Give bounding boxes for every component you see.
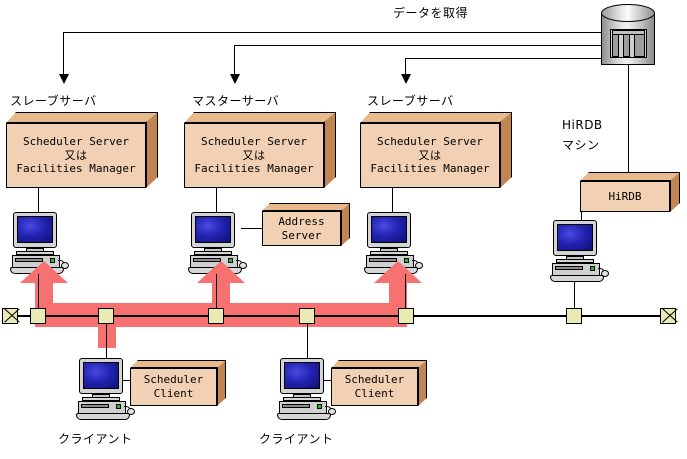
bus-drop-server1 (38, 274, 39, 309)
server-box-2-front: Scheduler Server 又は Facilities Manager (184, 123, 324, 188)
client-box-1-line1: Scheduler (144, 373, 204, 387)
client-box-1-side (217, 360, 226, 406)
server-box-3-line3: Facilities Manager (370, 162, 489, 176)
server-box-3-side (500, 112, 512, 188)
address-server-line2: Server (282, 229, 322, 243)
pc-power-led (590, 266, 595, 271)
server-box-2-top (184, 112, 336, 123)
server-box-3[interactable]: Scheduler Server 又は Facilities Manager (360, 112, 512, 188)
client-box-2[interactable]: Scheduler Client (331, 360, 427, 406)
server-role-label-1: スレーブサーバ (10, 92, 97, 109)
address-server-box-top (262, 203, 350, 211)
data-retrieval-label: データを取得 (393, 4, 468, 21)
server-role-label-2: マスターサーバ (192, 92, 279, 109)
client-box-2-line1: Scheduler (345, 373, 405, 387)
server3-to-pc-line (392, 188, 393, 212)
server-box-1-line1: Scheduler Server (23, 135, 129, 149)
client-box-2-front: Scheduler Client (331, 368, 418, 406)
cylinder-table-col2 (623, 34, 630, 57)
client-box-2-line2: Client (355, 387, 395, 401)
bus-connector-5[interactable] (398, 308, 414, 324)
server-box-2-line3: Facilities Manager (194, 162, 313, 176)
bus-connector-3[interactable] (208, 308, 224, 324)
hirdb-machine-label-line1: HiRDB (562, 118, 603, 132)
pc-mouse (328, 408, 336, 415)
pc-drive-bay (81, 404, 109, 408)
server-box-3-top (360, 112, 512, 123)
address-server-box-front: Address Server (262, 211, 341, 246)
bus-terminator-left (2, 308, 18, 324)
bus-terminator-right (660, 308, 676, 324)
db-feed-drop-2 (234, 45, 235, 76)
server-box-1-side (146, 112, 158, 188)
highlight-client-branch (98, 320, 116, 348)
monitor-screen (371, 216, 407, 243)
pc-power-led (116, 404, 121, 409)
bus-drop-client1 (106, 323, 107, 358)
server-box-2-line2: 又は (243, 149, 266, 163)
server-box-1-line2: 又は (65, 149, 88, 163)
pc-power-led (317, 404, 322, 409)
pc-keyboard (550, 275, 604, 282)
server-box-2-line1: Scheduler Server (201, 135, 307, 149)
pc-drive-bay (555, 266, 583, 270)
server1-to-pc-line (38, 188, 39, 212)
monitor-screen (557, 224, 593, 251)
db-feed-line-1 (63, 32, 620, 33)
server-box-3-front: Scheduler Server 又は Facilities Manager (360, 123, 500, 188)
database-cylinder (601, 4, 655, 66)
bus-drop-client2 (307, 323, 308, 358)
db-feed-arrowhead-2 (230, 74, 240, 84)
bus-connector-1[interactable] (30, 308, 46, 324)
client-box-2-top (331, 360, 427, 368)
bus-connector-4[interactable] (299, 308, 315, 324)
highlight-riser-2 (212, 282, 230, 306)
monitor-screen (17, 216, 53, 243)
hirdb-box[interactable]: HiRDB (580, 172, 680, 212)
highlight-arrow-1 (20, 261, 68, 283)
highlight-arrow-3 (374, 261, 422, 283)
address-server-box[interactable]: Address Server (262, 203, 350, 246)
server-box-1-top (6, 112, 158, 123)
client-box-1-line2: Client (154, 387, 194, 401)
bus-drop-server3 (405, 274, 406, 309)
hirdb-box-top (580, 172, 680, 181)
server-box-2[interactable]: Scheduler Server 又は Facilities Manager (184, 112, 336, 188)
pc-keyboard (277, 413, 331, 420)
server-role-label-3: スレーブサーバ (367, 92, 454, 109)
server-box-1-front: Scheduler Server 又は Facilities Manager (6, 123, 146, 188)
server2-to-pc-line (216, 188, 217, 212)
bus-connector-2[interactable] (98, 308, 114, 324)
hirdb-box-label: HiRDB (608, 190, 641, 204)
db-feed-line-2 (234, 45, 620, 46)
hirdb-computer[interactable] (550, 220, 612, 282)
server-box-1[interactable]: Scheduler Server 又は Facilities Manager (6, 112, 158, 188)
cylinder-table-col1 (612, 34, 619, 57)
client-box-1-top (130, 360, 226, 368)
network-diagram: データを取得 HiRDB マシン スレーブサーバ マスターサーバ スレーブサーバ… (0, 0, 687, 459)
cylinder-table-header (612, 30, 645, 35)
db-feed-arrowhead-3 (401, 74, 411, 84)
server-box-3-line1: Scheduler Server (377, 135, 483, 149)
client-box-2-side (418, 360, 427, 406)
monitor-screen (195, 216, 231, 243)
hirdb-machine-label-line2: マシン (562, 136, 600, 153)
client-box-1-front: Scheduler Client (130, 368, 217, 406)
monitor-screen (284, 362, 320, 389)
server-box-3-line2: 又は (419, 149, 442, 163)
cylinder-table-icon (610, 29, 647, 58)
server-box-1-line3: Facilities Manager (16, 162, 135, 176)
cylinder-table-col3 (634, 34, 645, 57)
client-computer-2[interactable] (277, 358, 339, 420)
bus-drop-server2 (216, 274, 217, 309)
cylinder-top (601, 4, 655, 22)
pc-mouse (127, 408, 135, 415)
pc-drive-bay (282, 404, 310, 408)
db-feed-arrowhead-1 (59, 74, 69, 84)
highlight-arrow-2 (197, 261, 245, 283)
db-to-hirdb-line (628, 64, 629, 176)
bus-drop-hirdb (574, 282, 575, 309)
hirdb-pc-stem (581, 212, 582, 220)
bus-connector-6[interactable] (566, 308, 582, 324)
db-feed-line-3 (405, 58, 620, 59)
pc-mouse (601, 270, 609, 277)
address-server-line1: Address (278, 215, 324, 229)
client-role-label-1: クライアント (58, 430, 133, 447)
hirdb-box-front: HiRDB (580, 181, 670, 212)
db-feed-drop-1 (63, 32, 64, 76)
pc-keyboard (76, 413, 130, 420)
client-role-label-2: クライアント (259, 430, 334, 447)
client-computer-1[interactable] (76, 358, 138, 420)
monitor-screen (83, 362, 119, 389)
client-box-1[interactable]: Scheduler Client (130, 360, 226, 406)
server-box-2-side (324, 112, 336, 188)
